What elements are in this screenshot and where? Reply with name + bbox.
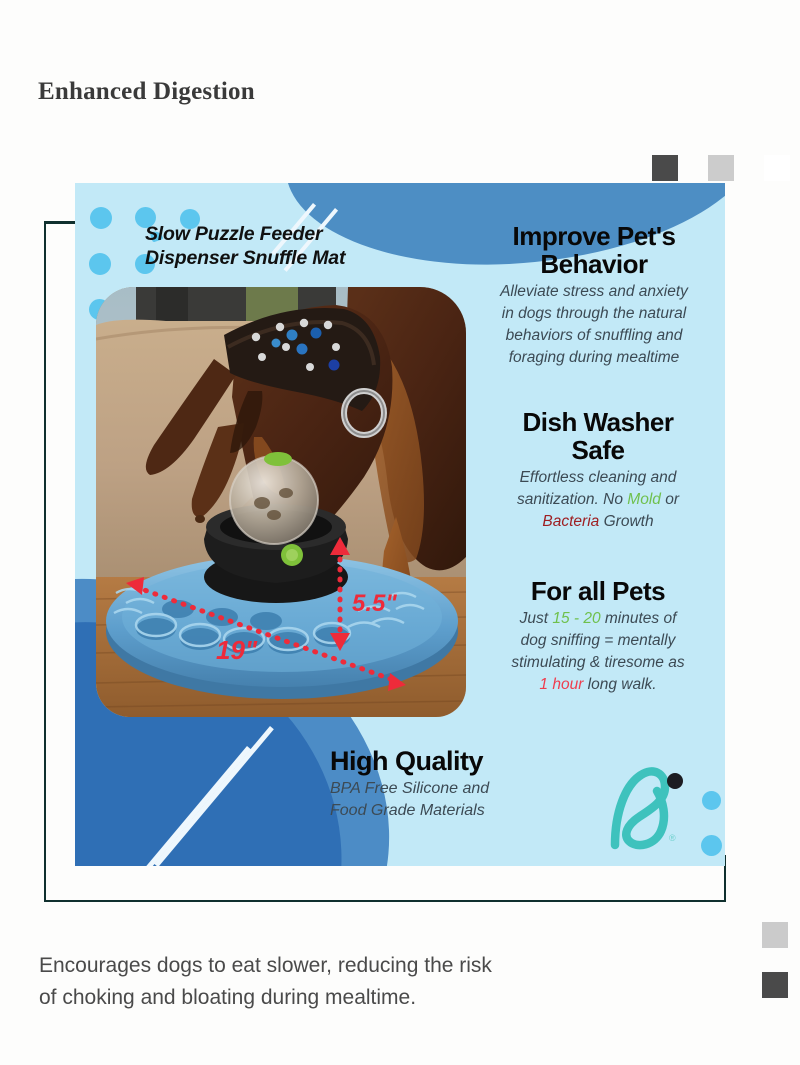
feature-body-text: sanitization. No: [517, 491, 627, 508]
bottom-caption-line2: of choking and bloating during mealtime.: [39, 982, 729, 1014]
feature-heading-line1: High Quality: [330, 747, 580, 776]
bottom-caption-line1: Encourages dogs to eat slower, reducing …: [39, 950, 729, 982]
decorative-dot: [702, 791, 721, 810]
brand-logo-icon: ®: [597, 761, 689, 853]
feature-body-text: long walk.: [583, 676, 656, 693]
page-title: Enhanced Digestion: [38, 78, 255, 106]
product-title-line1: Slow Puzzle Feeder: [145, 223, 475, 247]
highlight-minutes: 15 - 20: [552, 610, 600, 627]
svg-text:®: ®: [669, 833, 676, 843]
decorative-square-dark-top: [652, 155, 678, 181]
feature-heading-line1: For all Pets: [471, 578, 725, 606]
feature-body: Just 15 - 20 minutes of dog sniffing = m…: [471, 608, 725, 696]
feature-body-text: Just: [520, 610, 553, 627]
decorative-dot: [701, 835, 722, 856]
product-photo: 19" 5.5": [96, 287, 466, 717]
highlight-one-hour: 1 hour: [539, 676, 583, 693]
feature-heading-line2: Behavior: [465, 251, 723, 279]
highlight-mold: Mold: [627, 491, 661, 508]
decorative-dot: [90, 207, 112, 229]
decorative-square-dark-bottom: [762, 972, 788, 998]
photo-dimension-width-label: 19": [216, 635, 258, 665]
highlight-bacteria: Bacteria: [542, 513, 599, 530]
feature-heading: Improve Pet's Behavior: [465, 223, 723, 279]
bottom-caption: Encourages dogs to eat slower, reducing …: [39, 950, 729, 1013]
feature-heading-line1: Dish Washer: [471, 409, 725, 437]
decorative-square-white-top: [764, 155, 790, 181]
feature-dish-washer-safe: Dish Washer Safe Effortless cleaning and…: [471, 409, 725, 533]
feature-improve-pets-behavior: Improve Pet's Behavior Alleviate stress …: [465, 223, 723, 369]
product-infographic-panel: Slow Puzzle Feeder Dispenser Snuffle Mat: [75, 183, 725, 866]
feature-heading: High Quality: [330, 747, 580, 776]
feature-body-text: Growth: [599, 513, 653, 530]
feature-heading-line1: Improve Pet's: [465, 223, 723, 251]
feature-body: Alleviate stress and anxiety in dogs thr…: [465, 281, 723, 369]
product-title-line2: Dispenser Snuffle Mat: [145, 247, 475, 271]
feature-for-all-pets: For all Pets Just 15 - 20 minutes of dog…: [471, 578, 725, 696]
feature-body-text: minutes of: [601, 610, 677, 627]
decorative-square-gray-bottom: [762, 922, 788, 948]
feature-heading: Dish Washer Safe: [471, 409, 725, 465]
product-title: Slow Puzzle Feeder Dispenser Snuffle Mat: [145, 223, 475, 271]
photo-dimension-height-label: 5.5": [352, 590, 397, 617]
feature-heading-line2: Safe: [471, 437, 725, 465]
decorative-dot: [89, 253, 111, 275]
doberman-snuffle-mat-photo: 19" 5.5": [96, 287, 466, 717]
feature-body: BPA Free Silicone and Food Grade Materia…: [330, 778, 580, 822]
feature-heading: For all Pets: [471, 578, 725, 606]
feature-body-text: or: [661, 491, 679, 508]
decorative-square-gray-top: [708, 155, 734, 181]
feature-body: Effortless cleaning and sanitization. No…: [471, 467, 725, 533]
feature-high-quality: High Quality BPA Free Silicone and Food …: [330, 747, 580, 822]
